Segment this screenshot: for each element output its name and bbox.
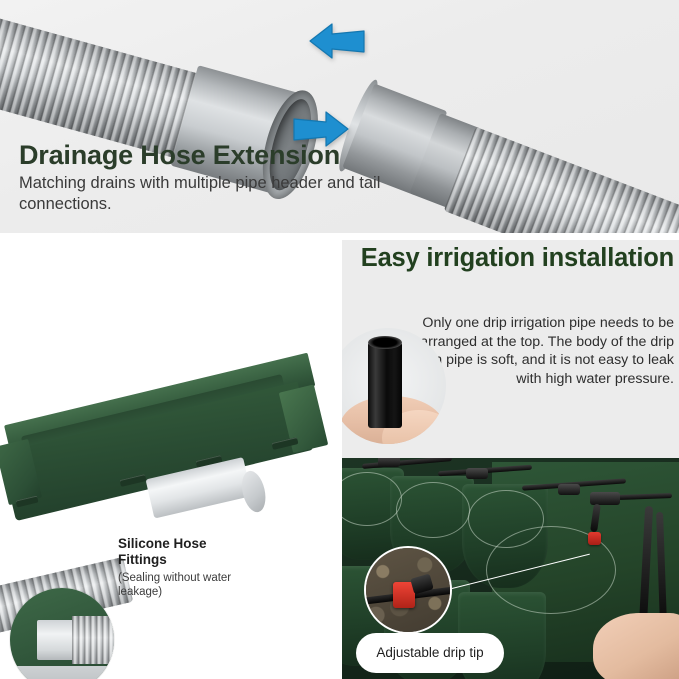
hero-title: Drainage Hose Extension: [19, 140, 439, 170]
infographic-page: Drainage Hose Extension Matching drains …: [0, 0, 679, 679]
drip-fitting: [378, 458, 400, 467]
callout-silicone-fitting-cutaway: [10, 588, 114, 679]
drip-fitting: [558, 484, 580, 495]
hero-text-block: Drainage Hose Extension Matching drains …: [19, 140, 439, 215]
drip-fitting: [466, 468, 488, 479]
outlet-pipe-cap: [238, 469, 269, 515]
vertical-divider: [334, 233, 342, 679]
hand-holding-planter: [593, 613, 679, 679]
silicone-fittings-panel: Silicone Hose Fittings (Sealing without …: [0, 240, 334, 679]
label-silicone-hose-fittings-top: Silicone Hose Fittings (Sealing without …: [118, 536, 253, 600]
drip-emitter-red: [588, 532, 601, 545]
callout-base-shade: [10, 666, 114, 679]
drip-fitting: [590, 492, 620, 505]
callout-ribbed-hose: [72, 616, 114, 664]
planter-installation-photo: Adjustable drip tip: [342, 458, 679, 679]
hero-panel: Drainage Hose Extension Matching drains …: [0, 0, 679, 233]
planter-cell-rim: [396, 482, 470, 538]
adjustable-drip-tip-badge: Adjustable drip tip: [356, 633, 504, 673]
irrigation-title: Easy irrigation installation: [356, 244, 674, 273]
black-drip-pipe: [368, 342, 402, 428]
callout-adjustable-drip-tip: [364, 546, 452, 634]
right-hose-corrugation: [444, 127, 679, 233]
drip-tube: [362, 458, 452, 469]
label-note: (Sealing without water leakage): [118, 572, 253, 600]
easy-irrigation-panel: Easy irrigation installation Only one dr…: [342, 240, 679, 679]
label-title: Silicone Hose Fittings: [118, 536, 253, 569]
hero-subtitle: Matching drains with multiple pipe heade…: [19, 173, 439, 215]
